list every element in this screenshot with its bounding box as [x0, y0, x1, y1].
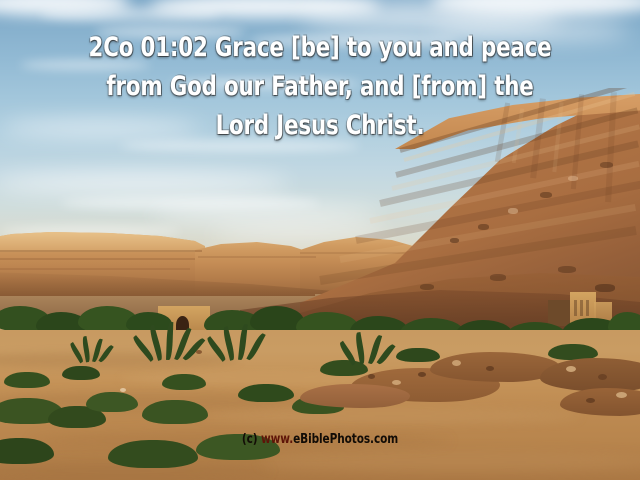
watermark-domain: eBiblePhotos.com [293, 432, 398, 447]
verse-photo-card: 2Co 01:02 Grace [be] to you and peace fr… [0, 0, 640, 480]
watermark: (c) www.eBiblePhotos.com [32, 432, 608, 447]
watermark-www: www. [261, 432, 293, 447]
watermark-copyright: (c) [242, 432, 258, 447]
